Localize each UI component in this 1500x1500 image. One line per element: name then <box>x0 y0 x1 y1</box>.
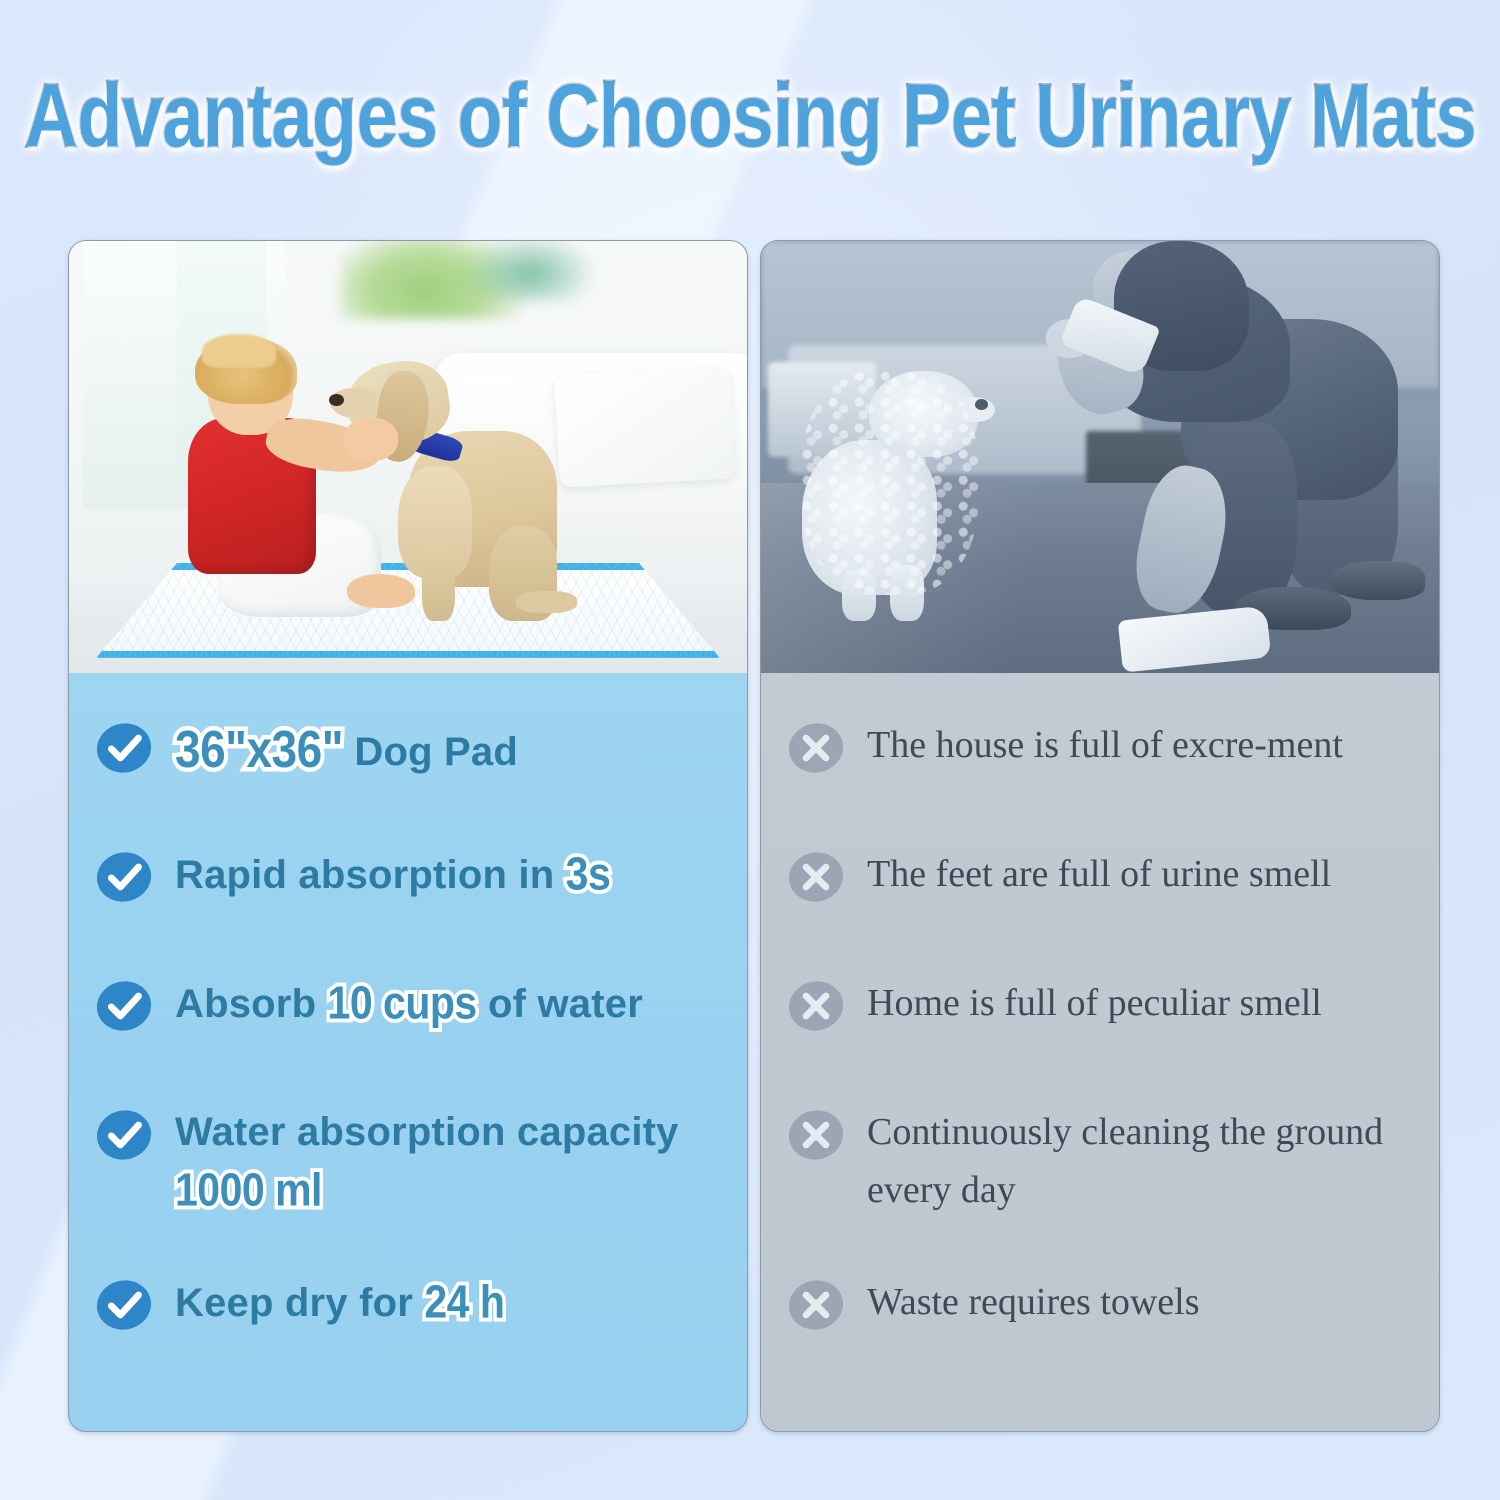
pros-item-text: Keep dry for 24 h <box>175 1272 504 1332</box>
cushion-shape <box>554 366 736 487</box>
x-circle-icon <box>787 1106 845 1164</box>
x-circle-icon <box>787 848 845 906</box>
check-circle-icon <box>95 1106 153 1164</box>
white-dog-curly-fur-texture <box>802 371 978 596</box>
white-dog-nose-shape <box>975 399 989 410</box>
pros-item-prefix: Rapid absorption in <box>175 853 566 897</box>
cons-list-item: The feet are full of urine smell <box>787 844 1415 973</box>
cons-item-text: The feet are full of urine smell <box>867 844 1331 904</box>
cons-list-item: Continuously cleaning the ground every d… <box>787 1102 1415 1272</box>
page-title-container: Advantages of Choosing Pet Urinary Mats <box>0 72 1500 148</box>
pros-item-text: Water absorption capacity 1000 ml <box>175 1102 723 1220</box>
pros-item-text: Absorb 10 cups of water <box>175 973 643 1033</box>
cons-list: The house is full of excre-mentThe feet … <box>761 673 1439 1431</box>
boy-hair-highlight <box>202 334 277 369</box>
pros-item-text: Rapid absorption in 3s <box>175 844 610 904</box>
cons-panel: The house is full of excre-mentThe feet … <box>760 240 1440 1432</box>
puppy-paw-shape <box>516 591 577 613</box>
cons-item-text: Home is full of peculiar smell <box>867 973 1322 1033</box>
plant-secondary-icon <box>462 241 598 301</box>
check-circle-icon <box>95 1276 153 1334</box>
check-circle-icon <box>95 977 153 1035</box>
cons-item-text: The house is full of excre-ment <box>867 715 1343 775</box>
pros-item-prefix: Absorb <box>175 982 328 1026</box>
check-circle-icon <box>95 719 153 777</box>
cons-item-text: Continuously cleaning the ground every d… <box>867 1102 1415 1220</box>
check-circle-icon <box>95 848 153 906</box>
check-circle-icon <box>95 719 153 777</box>
pros-item-suffix: Dog Pad <box>343 730 518 774</box>
pros-item-highlight: 24 h <box>424 1269 504 1336</box>
pros-list-item: Rapid absorption in 3s <box>95 844 723 973</box>
pros-item-highlight: 1000 ml <box>175 1157 322 1224</box>
cons-list-item: Home is full of peculiar smell <box>787 973 1415 1102</box>
pros-item-prefix: Water absorption capacity <box>175 1110 679 1154</box>
woman-cleaning-floor-with-dog-photo <box>761 241 1439 673</box>
pros-list-item: Water absorption capacity 1000 ml <box>95 1102 723 1272</box>
x-circle-icon <box>787 1106 845 1164</box>
comparison-panels: 36"x36" Dog PadRapid absorption in 3sAbs… <box>68 240 1440 1432</box>
cons-item-text: Waste requires towels <box>867 1272 1200 1332</box>
x-circle-icon <box>787 719 845 777</box>
pros-list-item: Absorb 10 cups of water <box>95 973 723 1102</box>
pros-item-highlight: 10 cups <box>328 970 477 1037</box>
x-circle-icon <box>787 977 845 1035</box>
pros-list-item: Keep dry for 24 h <box>95 1272 723 1401</box>
pros-item-suffix: of water <box>477 982 643 1026</box>
x-circle-icon <box>787 719 845 777</box>
pros-item-prefix: Keep dry for <box>175 1281 424 1325</box>
x-circle-icon <box>787 977 845 1035</box>
pee-pad-texture <box>96 563 720 658</box>
cons-list-item: Waste requires towels <box>787 1272 1415 1401</box>
pros-panel: 36"x36" Dog PadRapid absorption in 3sAbs… <box>68 240 748 1432</box>
x-circle-icon <box>787 1276 845 1334</box>
check-circle-icon <box>95 977 153 1035</box>
x-circle-icon <box>787 848 845 906</box>
pros-item-text: 36"x36" Dog Pad <box>175 715 518 783</box>
check-circle-icon <box>95 1276 153 1334</box>
check-circle-icon <box>95 848 153 906</box>
check-circle-icon <box>95 1106 153 1164</box>
boy-with-puppy-on-pee-pad-photo <box>69 241 747 673</box>
puppy-front-leg-shape <box>422 543 456 621</box>
pros-item-highlight: 3s <box>566 841 611 908</box>
x-circle-icon <box>787 1276 845 1334</box>
cons-list-item: The house is full of excre-ment <box>787 715 1415 844</box>
pros-list: 36"x36" Dog PadRapid absorption in 3sAbs… <box>69 673 747 1431</box>
page-title: Advantages of Choosing Pet Urinary Mats <box>24 72 1476 162</box>
pros-list-item: 36"x36" Dog Pad <box>95 715 723 844</box>
woman-back-shoe-shape <box>1331 561 1426 600</box>
pros-item-highlight: 36"x36" <box>175 712 343 787</box>
boy-hand-shape <box>344 418 398 461</box>
boy-foot-shape <box>347 574 415 609</box>
